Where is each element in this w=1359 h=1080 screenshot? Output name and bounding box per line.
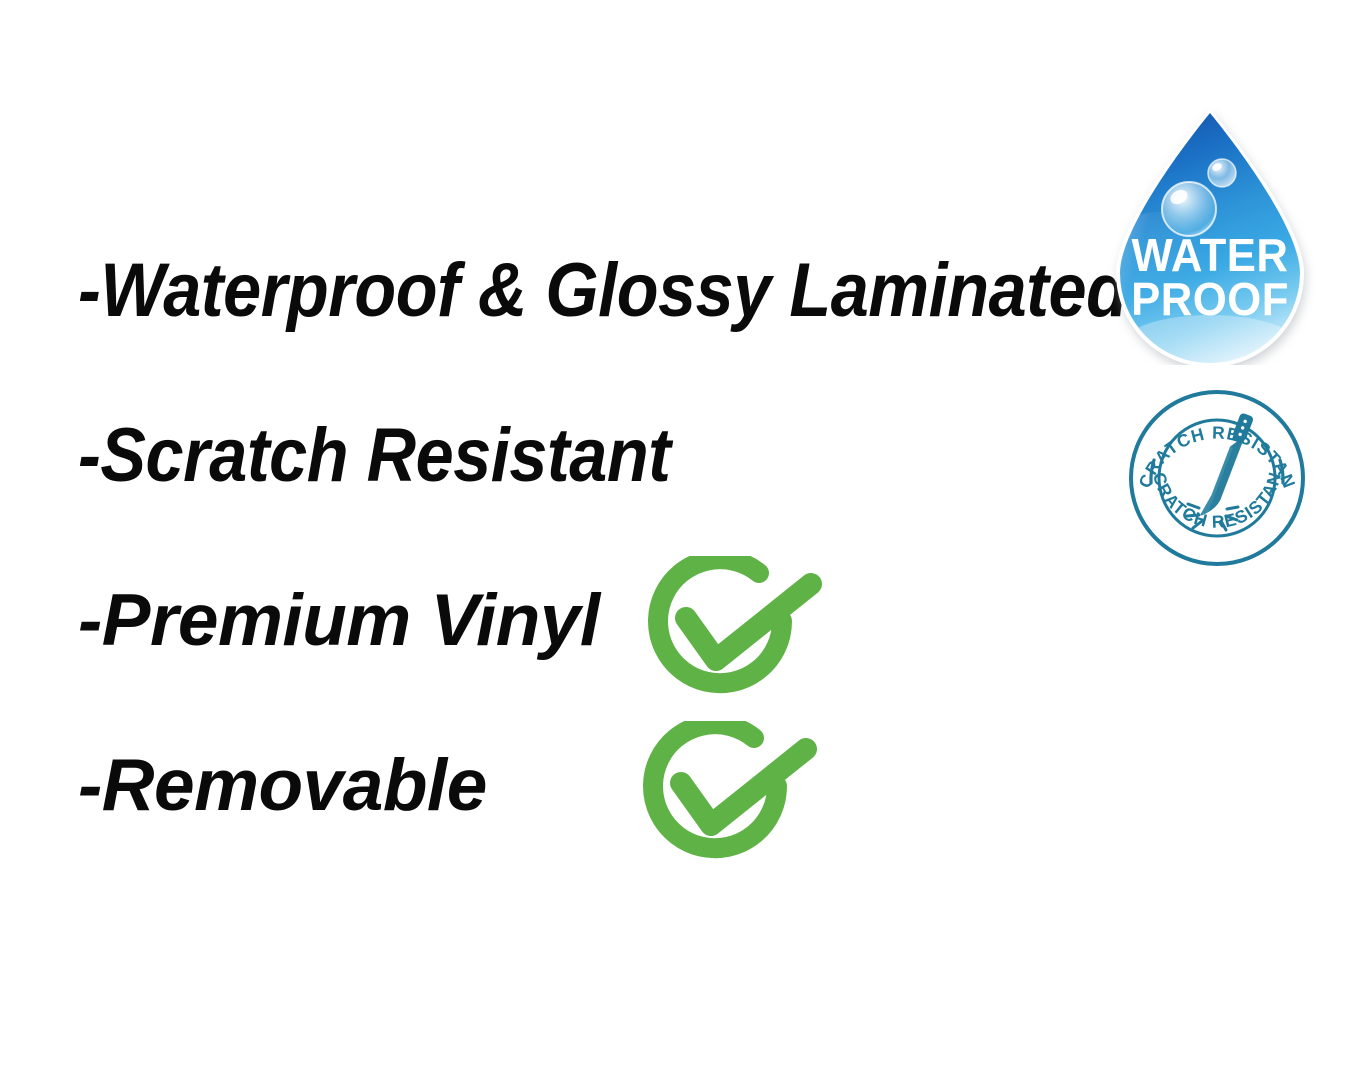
page-canvas: -Waterproof & Glossy Laminated -Scratch …: [0, 0, 1359, 1080]
feature-text-scratch-resistant: -Scratch Resistant: [78, 417, 671, 495]
feature-item-waterproof: -Waterproof & Glossy Laminated: [78, 252, 1098, 417]
waterproof-badge: WATER PROOF: [1104, 107, 1316, 365]
feature-item-premium-vinyl: -Premium Vinyl: [78, 582, 1098, 747]
check-tick: [686, 584, 811, 660]
check-tick: [681, 749, 806, 825]
feature-item-scratch-resistant: -Scratch Resistant: [78, 417, 1098, 582]
feature-item-removable: -Removable: [78, 747, 1098, 912]
check-circle-premium-vinyl: [641, 556, 841, 711]
feature-text-removable: -Removable: [78, 747, 487, 825]
feature-text-premium-vinyl: -Premium Vinyl: [78, 582, 600, 660]
feature-list: -Waterproof & Glossy Laminated -Scratch …: [78, 252, 1098, 912]
check-circle-removable: [636, 721, 836, 876]
feature-text-waterproof: -Waterproof & Glossy Laminated: [78, 252, 1127, 330]
scratch-resistant-badge: SCRATCH RESISTANT SCRATCH RESISTANT: [1127, 388, 1307, 568]
